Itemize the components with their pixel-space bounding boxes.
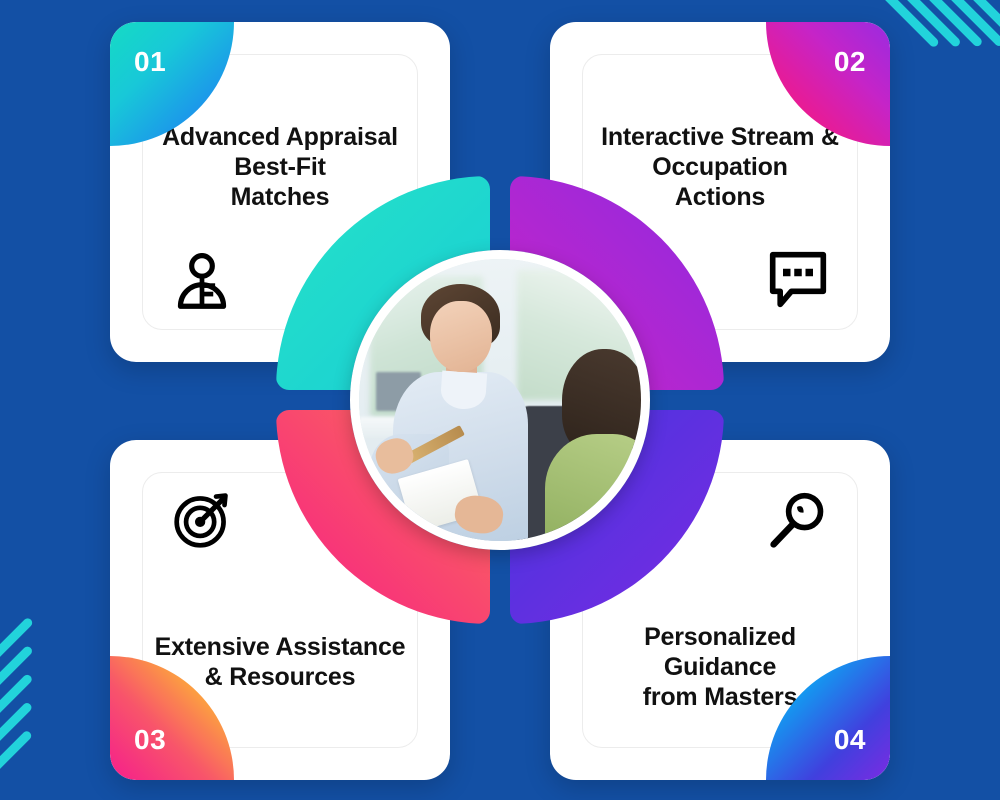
person-user-icon [172, 250, 232, 310]
stripe-line [927, 0, 1000, 48]
center-photo-frame [350, 250, 650, 550]
card-number-03: 03 [134, 724, 166, 756]
card-number-04: 04 [834, 724, 866, 756]
target-bullseye-icon [172, 490, 232, 550]
stripe-line [0, 616, 34, 707]
center-photo-image [359, 259, 641, 541]
stripe-line [0, 729, 33, 800]
card-number-02: 02 [834, 46, 866, 78]
stripe-line [953, 0, 1000, 48]
central-photo-ring [276, 176, 724, 624]
chat-bubble-icon [768, 250, 828, 310]
stripe-line [901, 0, 984, 48]
stripe-line [0, 645, 34, 732]
stripe-line [0, 701, 33, 779]
magnifier-search-icon [768, 490, 828, 550]
stripe-line [0, 673, 34, 756]
card-number-01: 01 [134, 46, 166, 78]
